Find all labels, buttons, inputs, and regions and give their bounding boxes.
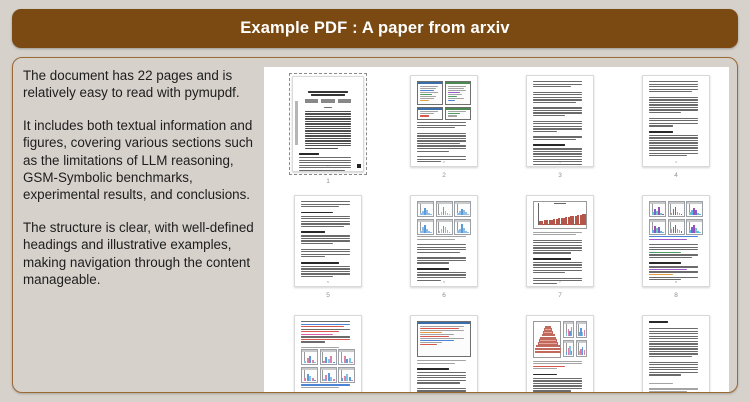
thumbnail-frame[interactable]: 5 xyxy=(292,193,364,289)
page-footer-number: 3 xyxy=(527,160,593,164)
page-footer-number: 4 xyxy=(643,160,709,164)
narrative-paragraph-2: It includes both textual information and… xyxy=(23,117,259,204)
thumbnail-page-4[interactable]: 4 4 xyxy=(618,73,729,193)
figure-chart-row xyxy=(301,367,355,383)
thumbnail-page-8[interactable]: 8 8 xyxy=(618,193,729,313)
page-footer-number: 8 xyxy=(643,280,709,284)
thumbnail-frame[interactable]: 8 xyxy=(640,193,712,289)
page-footer-number: 6 xyxy=(411,280,477,284)
page-footer-number: 7 xyxy=(527,280,593,284)
thumbnail-page-3[interactable]: 3 3 xyxy=(502,73,618,193)
page-preview: 11 xyxy=(526,315,594,393)
page-preview: 2 xyxy=(410,75,478,167)
page-footer-number: 5 xyxy=(295,280,361,284)
content-panel: The document has 22 pages and is relativ… xyxy=(12,57,738,393)
page-preview: 3 xyxy=(526,75,594,167)
page-preview: 7 xyxy=(526,195,594,287)
figure-callout-box xyxy=(417,321,471,357)
pdf-thumbnail-grid: 1 1 xyxy=(264,67,729,393)
thumbnail-page-11[interactable]: 11 11 xyxy=(502,313,618,393)
thumbnail-page-9[interactable]: 9 9 xyxy=(270,313,386,393)
thumbnail-page-2[interactable]: 2 2 xyxy=(386,73,502,193)
thumbnail-page-5[interactable]: 5 5 xyxy=(270,193,386,313)
page-preview: 10 xyxy=(410,315,478,393)
page-preview: 6 xyxy=(410,195,478,287)
narrative-text: The document has 22 pages and is relativ… xyxy=(23,67,259,389)
thumbnail-frame[interactable]: 7 xyxy=(524,193,596,289)
thumbnail-frame[interactable]: 6 xyxy=(408,193,480,289)
page-preview: 5 xyxy=(294,195,362,287)
thumbnail-label: 1 xyxy=(326,178,330,186)
page-preview: 8 xyxy=(642,195,710,287)
thumbnail-page-1[interactable]: 1 1 xyxy=(270,73,386,193)
figure-chart-row xyxy=(649,219,703,235)
figure-chart-row xyxy=(301,349,355,365)
thumbnail-label: 5 xyxy=(326,292,330,300)
page-title: Example PDF : A paper from arxiv xyxy=(240,19,510,38)
slide-canvas: Example PDF : A paper from arxiv The doc… xyxy=(0,0,750,402)
page-preview: 1 xyxy=(292,76,364,172)
figure-chart-row xyxy=(417,219,471,235)
page-footer-number: 2 xyxy=(411,160,477,164)
thumbnail-label: 3 xyxy=(558,172,562,180)
figure-chart-row xyxy=(649,201,703,217)
thumbnail-frame[interactable]: 9 xyxy=(292,313,364,393)
thumbnail-frame[interactable]: 3 xyxy=(524,73,596,169)
page-preview: 4 xyxy=(642,75,710,167)
thumbnail-label: 8 xyxy=(674,292,678,300)
page-preview: 12 xyxy=(642,315,710,393)
figure-pyramid-chart xyxy=(533,321,561,358)
thumbnail-frame[interactable]: 2 xyxy=(408,73,480,169)
thumbnail-frame[interactable]: 10 xyxy=(408,313,480,393)
figure-wide-bar-chart xyxy=(533,201,587,229)
narrative-paragraph-1: The document has 22 pages and is relativ… xyxy=(23,67,259,102)
thumbnail-frame[interactable]: 12 xyxy=(640,313,712,393)
figure-chart-row xyxy=(417,201,471,217)
thumbnail-page-12[interactable]: 12 12 xyxy=(618,313,729,393)
thumbnail-label: 6 xyxy=(442,292,446,300)
thumbnail-page-6[interactable]: 6 6 xyxy=(386,193,502,313)
thumbnail-page-7[interactable]: 7 7 xyxy=(502,193,618,313)
thumbnail-page-10[interactable]: 10 10 xyxy=(386,313,502,393)
thumbnail-selection-outline[interactable]: 1 xyxy=(289,73,367,175)
slide-header-bar: Example PDF : A paper from arxiv xyxy=(12,9,738,48)
thumbnail-frame[interactable]: 4 xyxy=(640,73,712,169)
thumbnail-label: 2 xyxy=(442,172,446,180)
thumbnail-label: 7 xyxy=(558,292,562,300)
page-footer-number: 1 xyxy=(293,165,363,169)
page-preview: 9 xyxy=(294,315,362,393)
pdf-thumbnail-pane[interactable]: 1 1 xyxy=(264,67,729,393)
thumbnail-frame[interactable]: 11 xyxy=(524,313,596,393)
narrative-paragraph-3: The structure is clear, with well-define… xyxy=(23,219,259,289)
thumbnail-label: 4 xyxy=(674,172,678,180)
